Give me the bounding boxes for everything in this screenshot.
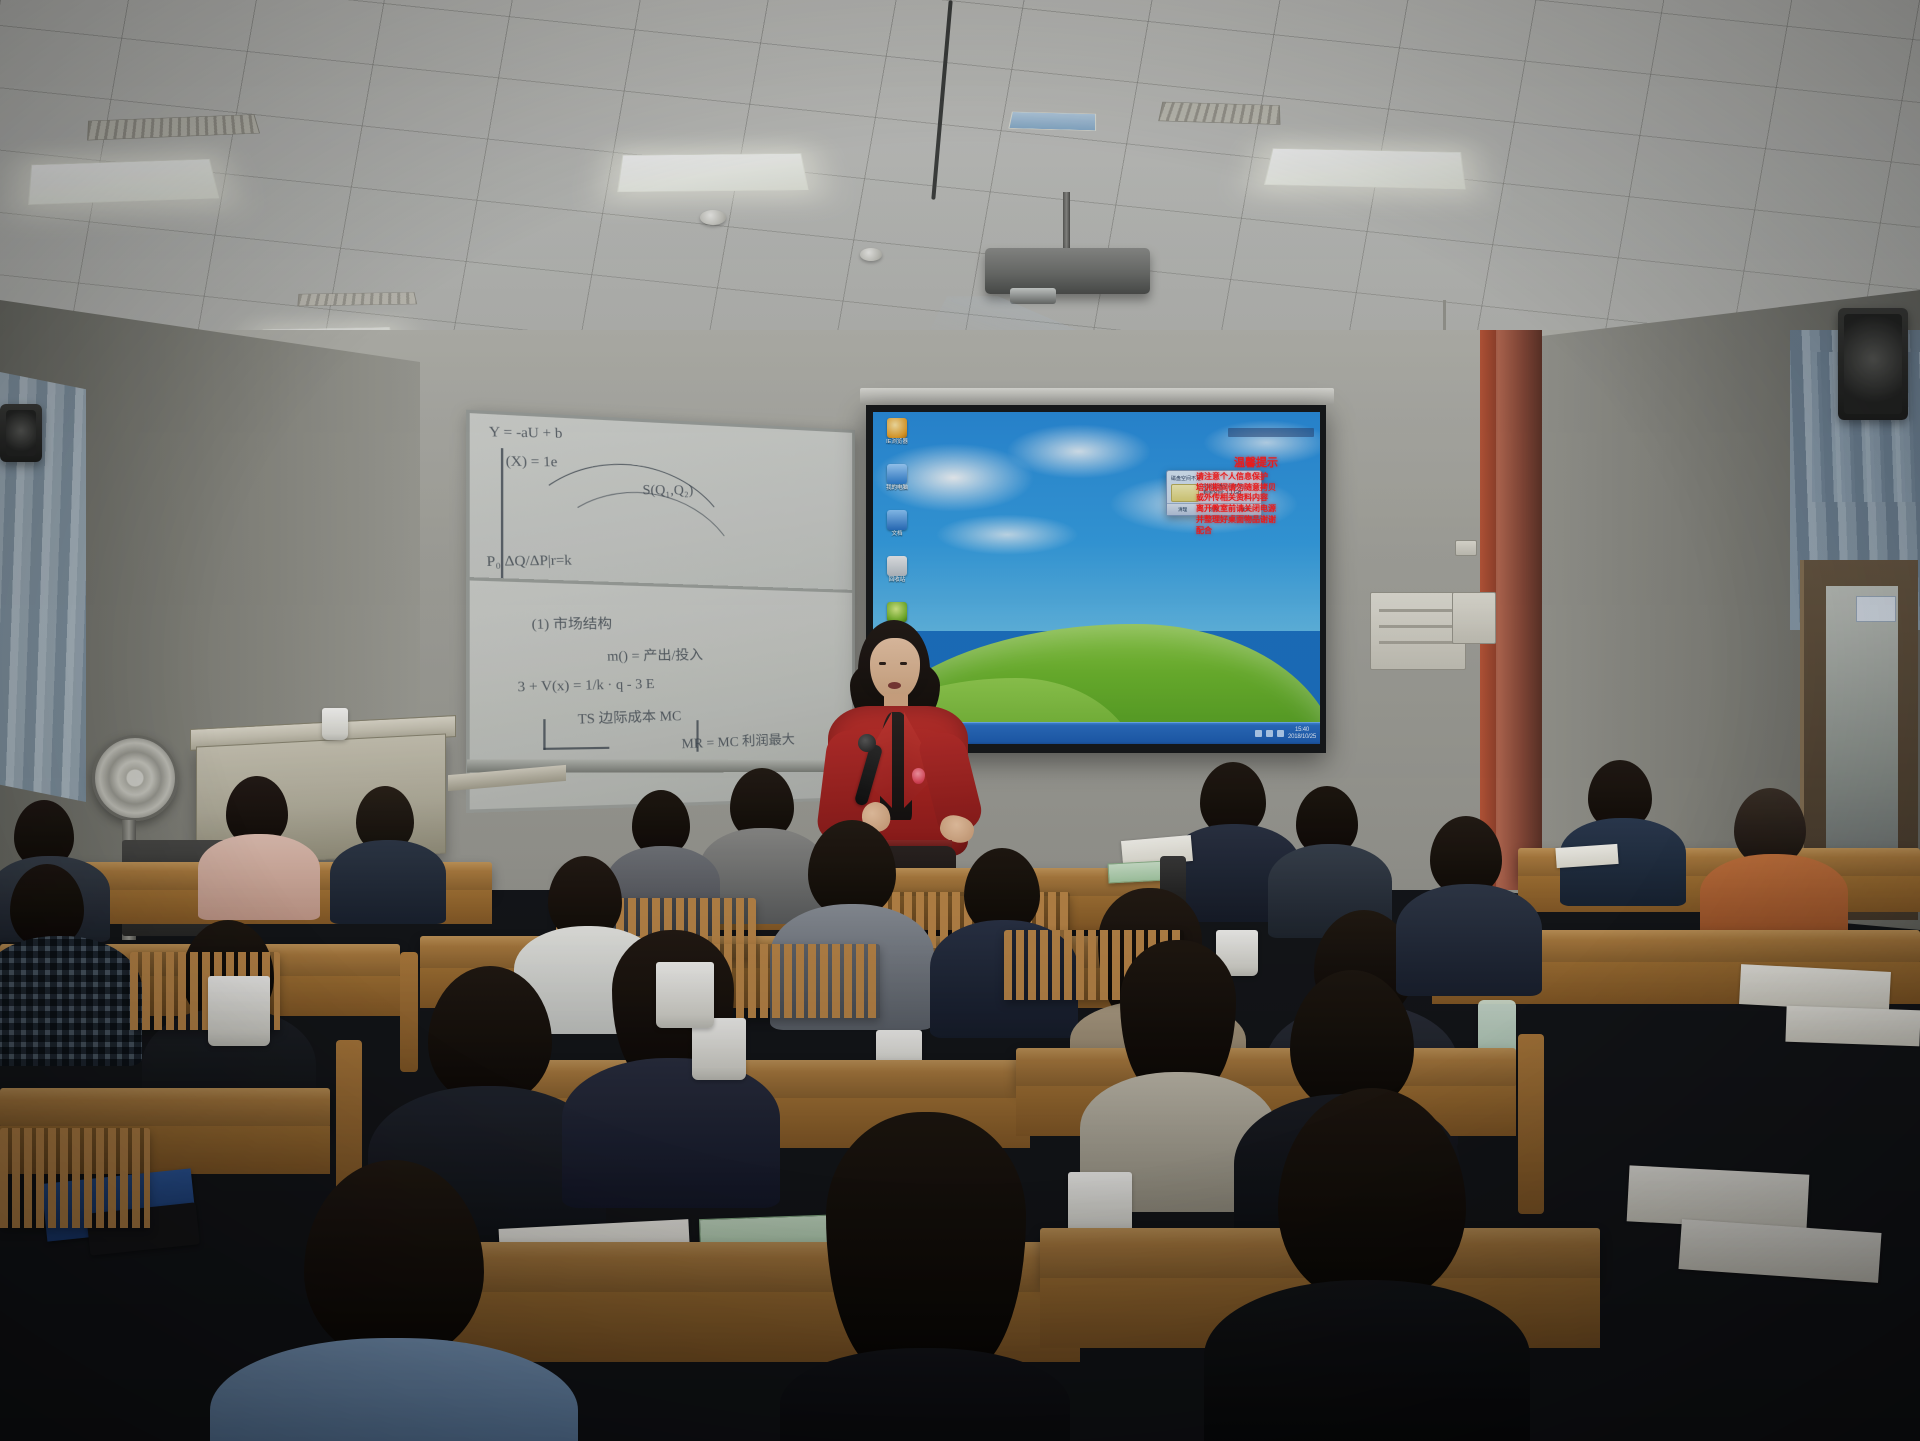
projector-mount-pole	[1063, 192, 1070, 250]
wall-outlet[interactable]	[1455, 540, 1477, 556]
attendee-torso	[562, 1058, 780, 1208]
warning-heading: 温馨提示	[1196, 456, 1316, 471]
attendee-head	[1278, 1088, 1466, 1304]
desktop-icon-label-0: IE浏览器	[886, 439, 908, 445]
board2-box-1	[543, 747, 609, 750]
classroom-photo: Y = -aU + b (X) = 1e P₀ ΔQ/ΔP|r=k S(Q₁,Q…	[0, 0, 1920, 1441]
paper-stack-row3-right[interactable]	[1739, 964, 1891, 1012]
board2-box-3	[696, 720, 698, 752]
folder-blue-icon	[887, 510, 907, 530]
ceiling-vent-2	[1158, 102, 1280, 125]
notification-thumbnail-icon	[1171, 484, 1199, 502]
attendee-row3-8	[0, 864, 150, 1064]
board-text-3: S(Q₁,Q₂)	[642, 482, 693, 498]
wall-speaker-left	[0, 404, 42, 462]
board-text-0: Y = -aU + b	[489, 424, 563, 442]
presenter-mouth	[888, 682, 901, 689]
clock-date: 2018/10/25	[1288, 734, 1316, 740]
ceiling-light-1	[28, 159, 219, 205]
presenter-eye-right	[900, 662, 907, 665]
board-text-2: P₀ ΔQ/ΔP|r=k	[486, 553, 572, 571]
board2-text-3: TS 边际成本 MC	[578, 708, 682, 727]
attendee-head	[304, 1160, 484, 1360]
smoke-detector-1	[700, 210, 726, 225]
tray-volume-icon[interactable]	[1266, 730, 1273, 737]
paper-row5-front-b[interactable]	[1678, 1219, 1881, 1283]
attendee-row5-3	[1204, 1088, 1534, 1441]
cup-on-lectern[interactable]	[322, 708, 348, 740]
wall-box-line-2	[1379, 625, 1458, 628]
internet-explorer-icon	[887, 418, 907, 438]
attendee-torso	[1204, 1280, 1530, 1441]
board2-text-2: 3 + V(x) = 1/k · q - 3 E	[517, 676, 654, 695]
attendee-row5-2	[760, 1112, 1090, 1441]
ceiling-light-2	[617, 153, 808, 192]
microphone-head-icon	[858, 734, 876, 752]
screen-roller-casing	[860, 388, 1334, 404]
ceiling-projector	[985, 248, 1150, 294]
warning-line-1: 培训期间请勿随意拷贝	[1196, 483, 1316, 494]
bench-back-row5	[0, 1128, 150, 1228]
warning-text-block: 温馨提示 请注意个人信息保护 培训期间请勿随意拷贝 或外传相关资料内容 离开教室…	[1196, 456, 1316, 537]
attendee-row5-1	[210, 1160, 580, 1441]
board-text-1: (X) = 1e	[505, 453, 557, 470]
attendee-far-5	[1700, 788, 1850, 938]
presenter-eye-left	[879, 662, 886, 665]
media-player-icon	[887, 602, 907, 622]
paper-cup-row5-a[interactable]	[208, 976, 270, 1046]
attendee-torso	[780, 1348, 1070, 1441]
wall-box-line-1	[1379, 609, 1458, 612]
smoke-detector-2	[860, 248, 882, 261]
ceiling-light-3	[1264, 148, 1466, 189]
tray-network-icon[interactable]	[1255, 730, 1262, 737]
attendee-torso	[210, 1338, 578, 1441]
warning-line-3: 离开教室前请关闭电源	[1196, 504, 1316, 515]
flower-brooch-icon	[912, 768, 925, 784]
xp-window-titlebar[interactable]	[1228, 428, 1314, 437]
system-tray[interactable]: 15:40 2018/10/25	[1255, 727, 1320, 740]
attendee-far-4	[1560, 760, 1688, 890]
attendee-torso	[0, 936, 142, 1066]
desktop-icon-documents[interactable]: 文档	[877, 510, 917, 537]
desktop-icon-internet-explorer[interactable]: IE浏览器	[877, 418, 917, 445]
wall-box-line-3	[1379, 641, 1458, 644]
board2-box-2	[543, 719, 545, 750]
paper-cup-row5-b[interactable]	[656, 962, 714, 1028]
desk-row4-left	[0, 1088, 330, 1128]
folder-icon	[887, 464, 907, 484]
paper-stack-row3-right-b[interactable]	[1785, 1006, 1920, 1047]
taskbar-clock[interactable]: 15:40 2018/10/25	[1288, 727, 1316, 740]
ceiling-light-5	[1008, 112, 1096, 131]
warning-line-2: 或外传相关资料内容	[1196, 493, 1316, 504]
board2-text-0: (1) 市场结构	[531, 616, 612, 633]
desktop-icon-my-computer[interactable]: 我的电脑	[877, 464, 917, 491]
desktop-icon-label-1: 我的电脑	[886, 485, 908, 491]
warning-line-0: 请注意个人信息保护	[1196, 472, 1316, 483]
warning-line-5: 配合	[1196, 526, 1316, 537]
attendee-hair-long	[1120, 940, 1236, 1090]
desktop-icon-recycle-bin[interactable]: 回收站	[877, 556, 917, 583]
attendee-hair-long	[826, 1112, 1026, 1372]
wall-switch-panel[interactable]	[1452, 592, 1496, 644]
attendee-head	[428, 966, 552, 1104]
attendee-row3-6	[1396, 816, 1546, 996]
door-sign	[1856, 596, 1896, 622]
warning-line-4: 并整理好桌面物品谢谢	[1196, 515, 1316, 526]
projector-lens	[1010, 288, 1056, 304]
board2-text-1: m() = 产出/投入	[607, 648, 703, 665]
desktop-icon-label-3: 回收站	[889, 577, 906, 583]
notification-button-clean[interactable]: 清理	[1178, 507, 1187, 513]
wall-speaker-right	[1838, 308, 1908, 420]
recycle-bin-icon	[887, 556, 907, 576]
desktop-icon-label-2: 文档	[891, 531, 902, 537]
tray-shield-icon[interactable]	[1277, 730, 1284, 737]
ceiling-vent-3	[297, 292, 417, 306]
